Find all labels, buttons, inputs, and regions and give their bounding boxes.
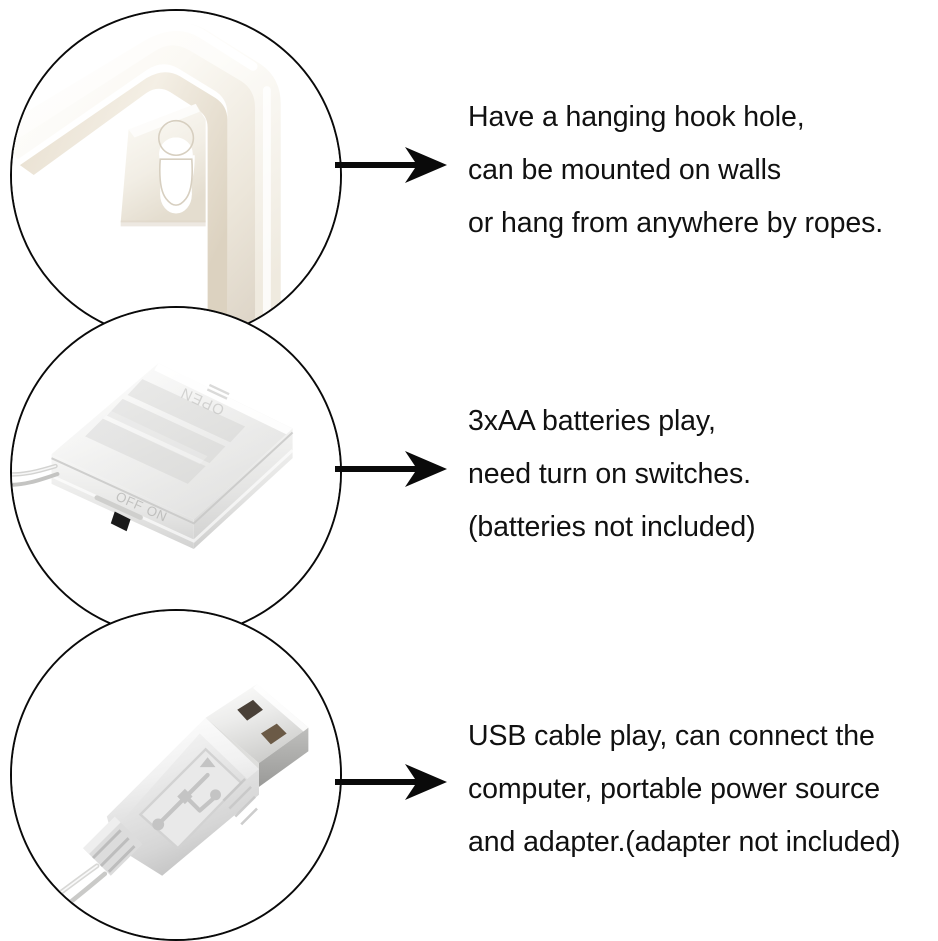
caption-line: or hang from anywhere by ropes. — [468, 197, 934, 250]
usb-connector-photo — [10, 609, 342, 941]
infographic-canvas: Have a hanging hook hole, can be mounted… — [0, 0, 938, 938]
caption-line: (batteries not included) — [468, 501, 934, 554]
caption-line: USB cable play, can connect the — [468, 710, 934, 763]
battery-box-photo: OPEN OFF ON — [10, 306, 342, 638]
feature-row-hook: Have a hanging hook hole, can be mounted… — [0, 0, 938, 330]
caption-line: Have a hanging hook hole, — [468, 91, 934, 144]
caption-line: computer, portable power source — [468, 763, 934, 816]
caption-line: and adapter.(adapter not included) — [468, 816, 934, 869]
feature-caption-usb: USB cable play, can connect the computer… — [468, 710, 934, 869]
callout-arrow-usb — [335, 760, 455, 804]
callout-arrow-battery — [335, 447, 455, 491]
neon-sign-hook-hole-photo — [10, 9, 342, 341]
caption-line: can be mounted on walls — [468, 144, 934, 197]
feature-row-usb: USB cable play, can connect the computer… — [0, 603, 938, 938]
feature-caption-hook: Have a hanging hook hole, can be mounted… — [468, 91, 934, 250]
caption-line: 3xAA batteries play, — [468, 395, 934, 448]
feature-row-battery: OPEN OFF ON — [0, 300, 938, 630]
caption-line: need turn on switches. — [468, 448, 934, 501]
feature-caption-battery: 3xAA batteries play, need turn on switch… — [468, 395, 934, 554]
callout-arrow-hook — [335, 143, 455, 187]
